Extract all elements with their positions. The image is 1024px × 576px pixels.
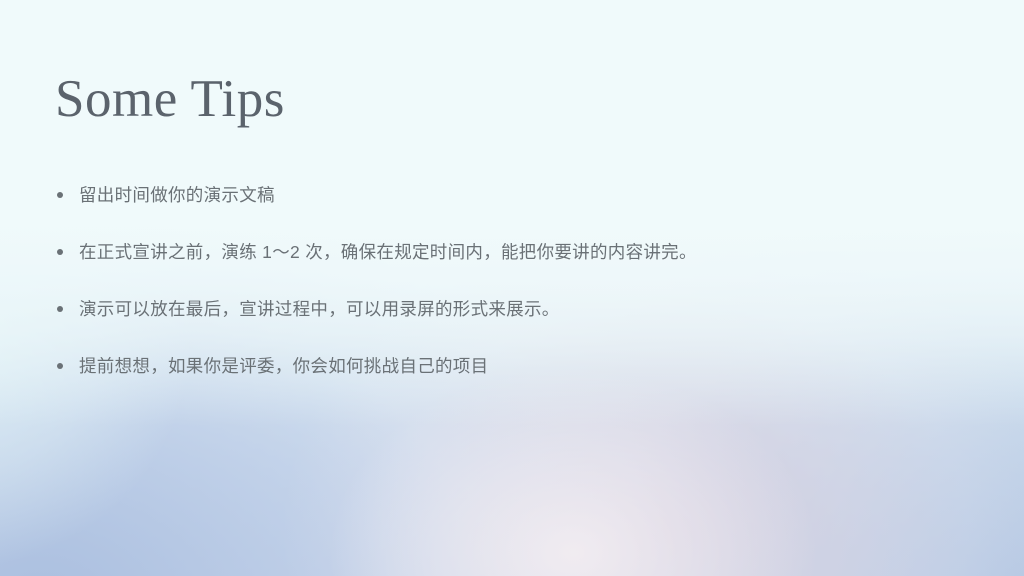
bullet-dot-icon [57, 306, 63, 312]
slide-title: Some Tips [55, 69, 285, 130]
presentation-slide: Some Tips 留出时间做你的演示文稿 在正式宣讲之前，演练 1～2 次，确… [0, 0, 1024, 576]
list-item-label: 留出时间做你的演示文稿 [79, 185, 275, 205]
bullet-list: 留出时间做你的演示文稿 在正式宣讲之前，演练 1～2 次，确保在规定时间内，能把… [54, 180, 954, 381]
bullet-dot-icon [57, 192, 63, 198]
list-item-label: 演示可以放在最后，宣讲过程中，可以用录屏的形式来展示。 [79, 299, 560, 319]
list-item-label: 提前想想，如果你是评委，你会如何挑战自己的项目 [79, 356, 488, 376]
list-item: 演示可以放在最后，宣讲过程中，可以用录屏的形式来展示。 [54, 294, 954, 324]
list-item: 留出时间做你的演示文稿 [54, 180, 954, 210]
slide-content: Some Tips 留出时间做你的演示文稿 在正式宣讲之前，演练 1～2 次，确… [0, 0, 1024, 576]
bullet-dot-icon [57, 249, 63, 255]
list-item: 提前想想，如果你是评委，你会如何挑战自己的项目 [54, 351, 954, 381]
bullet-dot-icon [57, 363, 63, 369]
list-item: 在正式宣讲之前，演练 1～2 次，确保在规定时间内，能把你要讲的内容讲完。 [54, 237, 954, 267]
list-item-label: 在正式宣讲之前，演练 1～2 次，确保在规定时间内，能把你要讲的内容讲完。 [79, 242, 697, 262]
